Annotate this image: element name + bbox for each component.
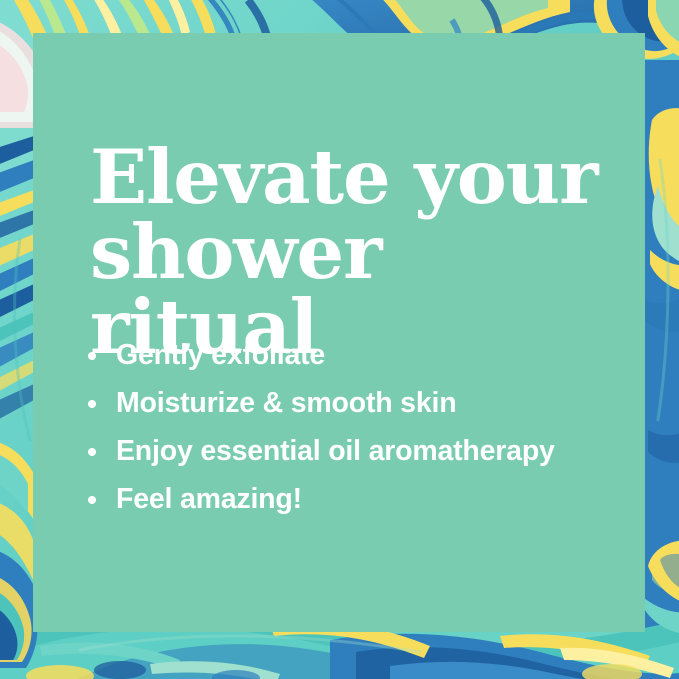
list-item: Enjoy essential oil aromatherapy bbox=[85, 427, 630, 475]
list-item: Gently exfoliate bbox=[85, 331, 630, 379]
benefits-list: Gently exfoliate Moisturize & smooth ski… bbox=[85, 331, 630, 523]
bullet-dot-icon bbox=[88, 496, 96, 504]
list-item: Moisturize & smooth skin bbox=[85, 379, 630, 427]
list-item-label: Enjoy essential oil aromatherapy bbox=[116, 435, 555, 467]
bullet-dot-icon bbox=[88, 400, 96, 408]
list-item-label: Moisturize & smooth skin bbox=[116, 387, 456, 419]
bullet-dot-icon bbox=[88, 448, 96, 456]
bullet-dot-icon bbox=[88, 352, 96, 360]
poster-canvas: Elevate your shower ritual Gently exfoli… bbox=[0, 0, 679, 679]
list-item-label: Gently exfoliate bbox=[116, 339, 325, 371]
list-item-label: Feel amazing! bbox=[116, 483, 302, 515]
content-panel: Elevate your shower ritual Gently exfoli… bbox=[33, 33, 645, 632]
list-item: Feel amazing! bbox=[85, 475, 630, 523]
